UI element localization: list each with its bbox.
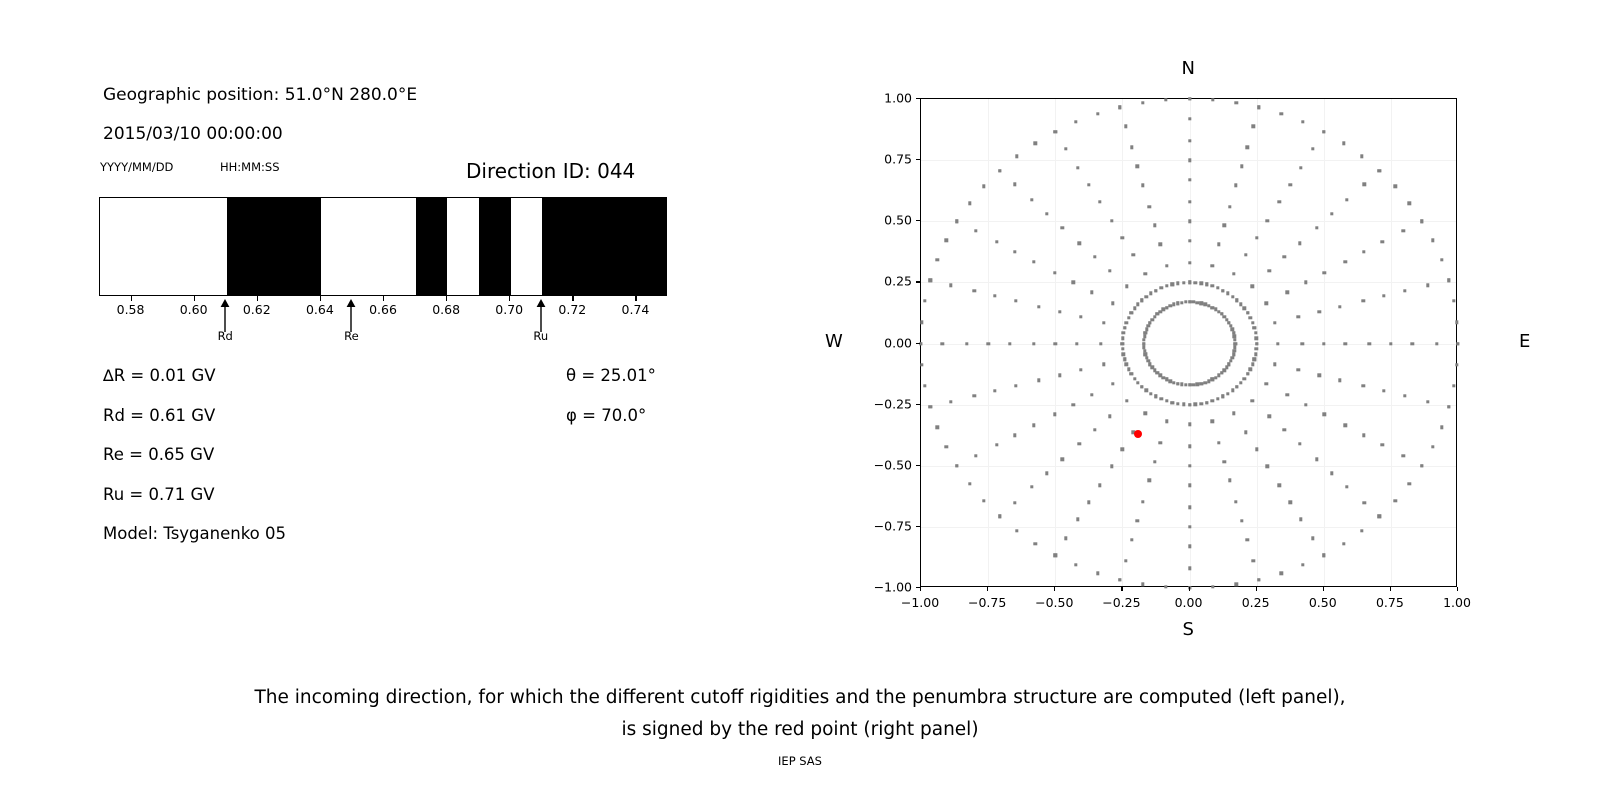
- direction-point: [993, 294, 996, 297]
- caption-line-2: is signed by the red point (right panel): [0, 714, 1600, 746]
- direction-point: [1102, 321, 1105, 324]
- direction-point: [923, 299, 926, 302]
- direction-point: [1304, 403, 1307, 406]
- direction-point: [1322, 342, 1325, 345]
- direction-point: [1087, 183, 1090, 186]
- scatter-x-tick: [1121, 587, 1122, 591]
- rigidity-marker-arrow-re: [344, 298, 358, 332]
- direction-point: [974, 454, 977, 457]
- direction-point: [1074, 120, 1077, 123]
- direction-point: [1054, 342, 1057, 345]
- direction-point: [1030, 485, 1033, 488]
- direction-point: [1141, 500, 1144, 503]
- direction-point: [1188, 422, 1191, 425]
- direction-point: [1013, 433, 1016, 436]
- param-text: Ru = 0.71 GV: [103, 485, 215, 504]
- scatter-x-tick-label: −0.25: [1102, 595, 1140, 610]
- direction-point: [1362, 384, 1365, 387]
- direction-point: [1188, 117, 1191, 120]
- direction-point: [1125, 321, 1128, 324]
- direction-point: [1315, 458, 1318, 461]
- footer-attribution: IEP SAS: [0, 754, 1600, 768]
- direction-point: [1176, 302, 1179, 305]
- direction-point: [1250, 399, 1253, 402]
- direction-point: [1362, 299, 1365, 302]
- direction-point: [1246, 372, 1249, 375]
- direction-point: [1143, 349, 1146, 352]
- scatter-x-tick-label: −0.75: [968, 595, 1006, 610]
- parameter-row-left-0: ∆R = 0.01 GV: [103, 356, 286, 396]
- direction-point: [1008, 342, 1011, 345]
- direction-point: [1317, 373, 1320, 376]
- direction-point: [1188, 300, 1191, 303]
- rigidity-marker-arrow-ru: [534, 298, 548, 332]
- direction-point: [1250, 285, 1253, 288]
- direction-point: [1345, 485, 1348, 488]
- direction-point: [1188, 383, 1191, 386]
- scatter-y-tick: [916, 281, 920, 282]
- direction-point: [1455, 320, 1458, 323]
- direction-point: [1176, 402, 1179, 405]
- direction-point: [1257, 106, 1260, 109]
- direction-point: [1142, 338, 1145, 341]
- direction-point: [1159, 286, 1162, 289]
- scatter-y-tick: [916, 465, 920, 466]
- x-axis-tick: [572, 296, 573, 301]
- direction-point: [1223, 224, 1226, 227]
- direction-point: [1456, 342, 1459, 345]
- direction-point: [923, 384, 926, 387]
- direction-point: [1162, 376, 1165, 379]
- direction-point: [1121, 336, 1124, 339]
- direction-point: [1054, 554, 1057, 557]
- direction-point: [1188, 545, 1191, 548]
- scatter-y-tick: [916, 159, 920, 160]
- direction-point: [1243, 377, 1246, 380]
- direction-point: [1249, 368, 1252, 371]
- direction-point: [973, 289, 976, 292]
- direction-point: [1220, 371, 1223, 374]
- direction-point: [1245, 146, 1248, 149]
- scatter-x-tick: [1457, 587, 1458, 591]
- selected-direction-point[interactable]: [1134, 430, 1142, 438]
- direction-point: [1146, 359, 1149, 362]
- direction-point: [968, 482, 971, 485]
- direction-point: [1338, 379, 1341, 382]
- direction-point: [1014, 299, 1017, 302]
- direction-point: [1188, 281, 1191, 284]
- direction-point: [1076, 518, 1079, 521]
- direction-point: [1110, 465, 1113, 468]
- compass-label-east: E: [1519, 331, 1530, 352]
- direction-point: [1283, 428, 1286, 431]
- compass-label-west: W: [825, 331, 843, 352]
- direction-point: [1232, 412, 1235, 415]
- direction-point: [1188, 261, 1191, 264]
- direction-point: [1288, 183, 1291, 186]
- direction-point: [1278, 200, 1281, 203]
- direction-point: [928, 405, 931, 408]
- direction-point: [944, 445, 947, 448]
- direction-point: [1211, 264, 1214, 267]
- scatter-y-tick-label: −0.50: [858, 457, 912, 472]
- direction-point: [1226, 392, 1229, 395]
- direction-point: [1159, 397, 1162, 400]
- direction-point: [1125, 285, 1128, 288]
- direction-point: [1093, 428, 1096, 431]
- direction-point: [1058, 310, 1061, 313]
- direction-point: [1133, 377, 1136, 380]
- parameter-row-left-3: Ru = 0.71 GV: [103, 475, 286, 515]
- direction-point: [1211, 98, 1214, 101]
- direction-point: [1234, 101, 1237, 104]
- direction-point: [1180, 301, 1183, 304]
- direction-point: [1140, 385, 1143, 388]
- direction-point: [1192, 300, 1195, 303]
- direction-point: [1121, 342, 1124, 345]
- direction-point: [1133, 307, 1136, 310]
- param-text: φ = 70.0°: [566, 406, 646, 425]
- direction-point: [1118, 106, 1121, 109]
- direction-point: [1214, 376, 1217, 379]
- direction-point: [1231, 295, 1234, 298]
- param-text: θ = 25.01°: [566, 366, 656, 385]
- direction-point: [1110, 219, 1113, 222]
- direction-point: [1087, 501, 1090, 504]
- direction-point: [1130, 311, 1133, 314]
- direction-point: [1232, 272, 1235, 275]
- direction-point: [1378, 169, 1381, 172]
- x-axis-tick: [131, 296, 132, 301]
- parameter-row-right-1: φ = 70.0°: [566, 396, 656, 436]
- direction-point: [1146, 324, 1149, 327]
- direction-point: [1205, 401, 1208, 404]
- scatter-y-tick-label: 1.00: [858, 91, 912, 106]
- direction-point: [1393, 499, 1396, 502]
- direction-point: [1426, 400, 1429, 403]
- direction-point: [1257, 578, 1260, 581]
- direction-point: [1382, 389, 1385, 392]
- direction-point: [1176, 282, 1179, 285]
- direction-point: [968, 202, 971, 205]
- direction-point: [1045, 471, 1048, 474]
- direction-point: [1211, 399, 1214, 402]
- direction-point: [1142, 342, 1145, 345]
- direction-point: [1234, 500, 1237, 503]
- direction-point: [1076, 166, 1079, 169]
- direction-point: [1143, 272, 1146, 275]
- direction-point: [1053, 413, 1056, 416]
- scatter-y-tick-label: 0.50: [858, 213, 912, 228]
- direction-point: [1447, 405, 1450, 408]
- direction-point: [935, 425, 938, 428]
- direction-point: [1322, 554, 1325, 557]
- param-text: Rd = 0.61 GV: [103, 406, 215, 425]
- direction-point: [1368, 342, 1371, 345]
- direction-point: [1362, 433, 1365, 436]
- direction-point: [1154, 395, 1157, 398]
- direction-point: [1299, 518, 1302, 521]
- direction-point: [1108, 269, 1111, 272]
- direction-point: [1322, 130, 1325, 133]
- direction-point: [1255, 347, 1258, 350]
- direction-point: [1149, 292, 1152, 295]
- scatter-y-tick-label: −1.00: [858, 580, 912, 595]
- direction-point: [1246, 311, 1249, 314]
- direction-point: [1268, 414, 1271, 417]
- direction-point: [995, 443, 998, 446]
- direction-point: [1435, 342, 1438, 345]
- direction-point: [1221, 289, 1224, 292]
- direction-point: [1170, 401, 1173, 404]
- direction-point: [1315, 226, 1318, 229]
- direction-point: [1440, 258, 1443, 261]
- direction-point: [1311, 147, 1314, 150]
- direction-point: [1431, 238, 1434, 241]
- direction-point: [1239, 303, 1242, 306]
- direction-point: [1072, 281, 1075, 284]
- direction-point: [1194, 281, 1197, 284]
- direction-point: [1342, 542, 1345, 545]
- direction-point: [1165, 264, 1168, 267]
- x-axis-tick: [257, 296, 258, 301]
- direction-point: [1280, 572, 1283, 575]
- direction-point: [1030, 198, 1033, 201]
- direction-point: [1196, 301, 1199, 304]
- direction-point: [1130, 538, 1133, 541]
- x-axis-tick-label: 0.70: [495, 302, 523, 317]
- direction-point: [1211, 420, 1214, 423]
- scatter-y-tick: [916, 98, 920, 99]
- direction-point: [1304, 281, 1307, 284]
- direction-point: [1297, 315, 1300, 318]
- direction-point: [1203, 381, 1206, 384]
- scatter-x-tick: [1189, 587, 1190, 591]
- direction-point: [1345, 198, 1348, 201]
- direction-point: [1136, 381, 1139, 384]
- scatter-x-tick-label: 0.25: [1242, 595, 1270, 610]
- direction-point: [920, 363, 923, 366]
- direction-point: [949, 400, 952, 403]
- x-axis-tick-label: 0.58: [117, 302, 145, 317]
- direction-point: [982, 185, 985, 188]
- scatter-x-tick: [1054, 587, 1055, 591]
- direction-point: [1382, 294, 1385, 297]
- direction-point: [1143, 335, 1146, 338]
- rigidity-marker-label-rd: Rd: [218, 329, 233, 343]
- direction-point: [1143, 412, 1146, 415]
- direction-point: [1061, 226, 1064, 229]
- direction-point: [1096, 572, 1099, 575]
- direction-point: [1273, 321, 1276, 324]
- direction-point: [1311, 537, 1314, 540]
- direction-point: [1298, 442, 1301, 445]
- scatter-y-tick-label: −0.25: [858, 396, 912, 411]
- direction-map-panel: −1.00−0.75−0.50−0.250.000.250.500.751.00…: [760, 0, 1600, 660]
- direction-point: [1276, 342, 1279, 345]
- direction-point: [1301, 342, 1304, 345]
- direction-point: [1079, 315, 1082, 318]
- direction-point: [1145, 356, 1148, 359]
- direction-point: [1165, 420, 1168, 423]
- direction-point: [998, 515, 1001, 518]
- scatter-x-tick: [987, 587, 988, 591]
- direction-point: [1297, 368, 1300, 371]
- penumbra-band-forbidden: [479, 198, 511, 294]
- scatter-x-tick-label: −1.00: [901, 595, 939, 610]
- direction-point: [1180, 383, 1183, 386]
- direction-point: [1123, 326, 1126, 329]
- direction-point: [1255, 336, 1258, 339]
- direction-point: [1426, 284, 1429, 287]
- direction-point: [1141, 101, 1144, 104]
- direction-point: [1108, 414, 1111, 417]
- x-axis-tick-label: 0.74: [622, 302, 650, 317]
- compass-label-north: N: [1182, 58, 1195, 79]
- direction-point: [1145, 295, 1148, 298]
- x-axis-tick: [446, 296, 447, 301]
- direction-point: [1122, 331, 1125, 334]
- direction-point: [1265, 382, 1268, 385]
- scatter-plot-area: [920, 98, 1457, 587]
- direction-point: [1096, 112, 1099, 115]
- direction-point: [1141, 184, 1144, 187]
- direction-point: [1342, 142, 1345, 145]
- direction-point: [1145, 389, 1148, 392]
- direction-point: [1078, 242, 1081, 245]
- scatter-y-tick: [916, 404, 920, 405]
- direction-point: [1362, 183, 1365, 186]
- direction-point: [1252, 559, 1255, 562]
- direction-point: [998, 169, 1001, 172]
- direction-point: [1251, 321, 1254, 324]
- direction-point: [1188, 97, 1191, 100]
- param-text: R = 0.01 GV: [114, 366, 216, 385]
- parameter-row-left-1: Rd = 0.61 GV: [103, 396, 286, 436]
- scatter-x-tick: [1390, 587, 1391, 591]
- direction-point: [1253, 358, 1256, 361]
- direction-point: [1393, 185, 1396, 188]
- direction-point: [1420, 464, 1423, 467]
- direction-point: [1153, 224, 1156, 227]
- x-axis-tick-label: 0.68: [432, 302, 460, 317]
- param-text: Re = 0.65 GV: [103, 445, 214, 464]
- direction-point: [1188, 567, 1191, 570]
- direction-point: [1154, 289, 1157, 292]
- direction-point: [1188, 220, 1191, 223]
- direction-point: [1251, 363, 1254, 366]
- direction-point: [1064, 537, 1067, 540]
- direction-point: [1235, 299, 1238, 302]
- direction-point: [1298, 242, 1301, 245]
- direction-point: [1255, 236, 1258, 239]
- direction-point: [1254, 352, 1257, 355]
- scatter-x-tick-label: −0.50: [1035, 595, 1073, 610]
- direction-point: [1032, 342, 1035, 345]
- scatter-x-tick: [1323, 587, 1324, 591]
- direction-point: [1172, 381, 1175, 384]
- scatter-y-tick-label: 0.00: [858, 335, 912, 350]
- direction-point: [1136, 519, 1139, 522]
- direction-point: [1165, 284, 1168, 287]
- direction-point: [1216, 397, 1219, 400]
- direction-point: [1079, 368, 1082, 371]
- direction-point: [974, 229, 977, 232]
- datetime-text: 2015/03/10 00:00:00: [103, 124, 283, 144]
- direction-point: [1440, 425, 1443, 428]
- direction-point: [1136, 165, 1139, 168]
- direction-point: [1014, 384, 1017, 387]
- scatter-y-tick: [916, 220, 920, 221]
- direction-point: [1245, 538, 1248, 541]
- parameter-list-left: ∆R = 0.01 GVRd = 0.61 GVRe = 0.65 GVRu =…: [103, 356, 286, 554]
- direction-point: [1211, 585, 1214, 588]
- direction-point: [1389, 342, 1392, 345]
- direction-point: [1207, 379, 1210, 382]
- direction-point: [1234, 583, 1237, 586]
- direction-point: [1323, 271, 1326, 274]
- direction-point: [1184, 300, 1187, 303]
- direction-point: [1149, 392, 1152, 395]
- direction-point: [1122, 352, 1125, 355]
- scatter-y-tick-label: 0.75: [858, 152, 912, 167]
- direction-point: [1015, 154, 1018, 157]
- direction-point: [1188, 403, 1191, 406]
- direction-point: [1034, 142, 1037, 145]
- direction-point: [949, 284, 952, 287]
- direction-point: [1078, 442, 1081, 445]
- x-axis-tick: [509, 296, 510, 301]
- penumbra-band-forbidden: [416, 198, 448, 294]
- direction-point: [1125, 363, 1128, 366]
- direction-point: [1148, 321, 1151, 324]
- direction-point: [1032, 260, 1035, 263]
- scatter-y-tick: [916, 587, 920, 588]
- rigidity-marker-arrow-rd: [218, 298, 232, 332]
- direction-point: [1273, 363, 1276, 366]
- direction-point: [955, 220, 958, 223]
- direction-point: [1285, 393, 1288, 396]
- direction-point: [1118, 578, 1121, 581]
- param-prefix: ∆: [103, 366, 114, 385]
- direction-point: [1223, 460, 1226, 463]
- direction-point: [1455, 363, 1458, 366]
- direction-point: [1075, 342, 1078, 345]
- left-panel: Geographic position: 51.0°N 280.0°E 2015…: [0, 0, 760, 660]
- direction-point: [1164, 98, 1167, 101]
- direction-point: [1255, 448, 1258, 451]
- horizontal-gridline: [921, 344, 1456, 345]
- direction-point: [1124, 559, 1127, 562]
- direction-point: [1211, 378, 1214, 381]
- direction-point: [1411, 342, 1414, 345]
- direction-point: [1266, 219, 1269, 222]
- direction-point: [1228, 479, 1231, 482]
- direction-point: [1130, 372, 1133, 375]
- direction-point: [1221, 395, 1224, 398]
- x-axis-tick: [194, 296, 195, 301]
- direction-point: [1130, 146, 1133, 149]
- direction-point: [1037, 305, 1040, 308]
- direction-point: [1199, 402, 1202, 405]
- direction-point: [1362, 501, 1365, 504]
- direction-point: [1188, 178, 1191, 181]
- direction-point: [1032, 424, 1035, 427]
- direction-point: [1141, 583, 1144, 586]
- direction-point: [1452, 384, 1455, 387]
- direction-point: [1098, 484, 1101, 487]
- direction-point: [1125, 399, 1128, 402]
